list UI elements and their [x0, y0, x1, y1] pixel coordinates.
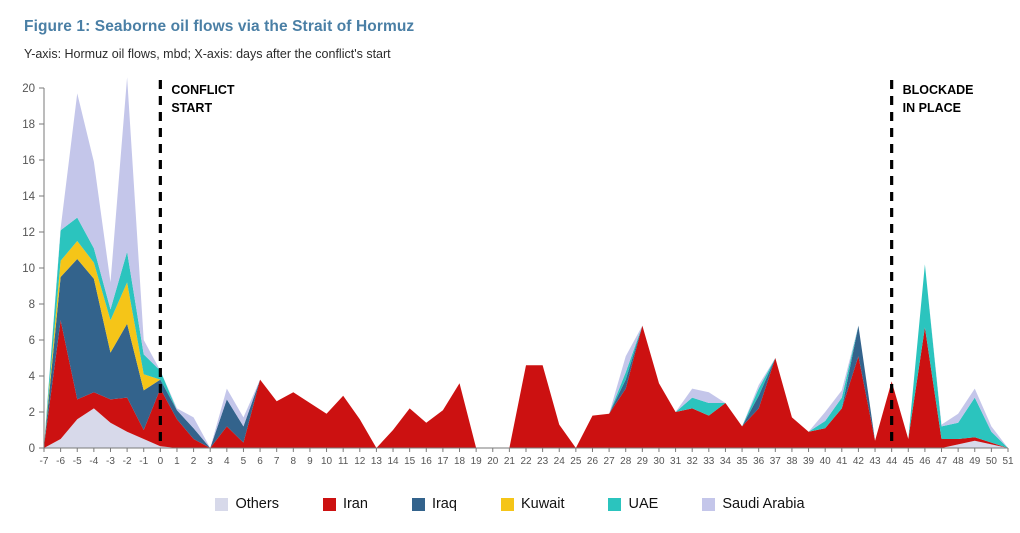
chart-series-group: [44, 77, 1008, 448]
legend-item-iran[interactable]: Iran: [323, 496, 368, 512]
x-tick-label: -7: [40, 456, 49, 467]
legend-label: Others: [235, 496, 279, 512]
x-tick-label: 28: [620, 456, 632, 467]
x-tick-label: 4: [224, 456, 230, 467]
blockade-in-place-label-line2: IN PLACE: [903, 101, 961, 115]
x-tick-label: 13: [371, 456, 383, 467]
conflict-start-label-line1: CONFLICT: [171, 83, 235, 97]
chart-plot-area: 02468101214161820-7-6-5-4-3-2-1012345678…: [0, 70, 1020, 470]
x-tick-label: 15: [404, 456, 416, 467]
x-tick-label: 6: [257, 456, 263, 467]
x-tick-label: 12: [354, 456, 366, 467]
x-tick-label: 40: [820, 456, 832, 467]
x-tick-label: 34: [720, 456, 732, 467]
x-tick-label: 24: [554, 456, 566, 467]
x-tick-label: 38: [786, 456, 798, 467]
x-tick-label: 10: [321, 456, 333, 467]
x-tick-label: 7: [274, 456, 280, 467]
stacked-area-chart: 02468101214161820-7-6-5-4-3-2-1012345678…: [0, 70, 1020, 470]
x-tick-label: 46: [919, 456, 931, 467]
x-tick-label: 43: [869, 456, 881, 467]
x-tick-label: 31: [670, 456, 682, 467]
x-tick-label: 37: [770, 456, 782, 467]
legend-swatch-icon: [501, 498, 514, 511]
x-tick-label: 26: [587, 456, 599, 467]
figure-container: Figure 1: Seaborne oil flows via the Str…: [0, 0, 1020, 533]
x-tick-label: -2: [123, 456, 132, 467]
x-tick-label: 3: [207, 456, 213, 467]
x-tick-label: 32: [687, 456, 699, 467]
y-tick-label: 18: [22, 119, 35, 131]
y-tick-label: 8: [29, 299, 35, 311]
x-tick-label: 1: [174, 456, 180, 467]
legend-swatch-icon: [608, 498, 621, 511]
x-tick-label: 50: [986, 456, 998, 467]
x-tick-label: 16: [421, 456, 433, 467]
x-tick-label: 49: [969, 456, 981, 467]
x-tick-label: 18: [454, 456, 466, 467]
y-tick-label: 6: [29, 335, 35, 347]
legend-swatch-icon: [215, 498, 228, 511]
legend-item-others[interactable]: Others: [215, 496, 279, 512]
legend-label: Saudi Arabia: [722, 496, 804, 512]
x-tick-label: 11: [338, 456, 349, 467]
x-tick-label: 17: [437, 456, 449, 467]
y-tick-label: 10: [22, 263, 35, 275]
y-tick-label: 14: [22, 191, 35, 203]
legend-item-uae[interactable]: UAE: [608, 496, 658, 512]
x-tick-label: 33: [703, 456, 715, 467]
legend-swatch-icon: [323, 498, 336, 511]
y-tick-label: 16: [22, 155, 35, 167]
x-tick-label: 42: [853, 456, 865, 467]
legend-label: Kuwait: [521, 496, 565, 512]
legend-label: UAE: [628, 496, 658, 512]
x-tick-label: 27: [604, 456, 616, 467]
conflict-start-label-line2: START: [171, 101, 212, 115]
x-tick-label: 45: [903, 456, 915, 467]
x-tick-label: 48: [953, 456, 965, 467]
x-tick-label: 22: [520, 456, 532, 467]
x-tick-label: 19: [471, 456, 483, 467]
x-tick-label: 20: [487, 456, 499, 467]
x-tick-label: 47: [936, 456, 948, 467]
x-tick-label: 35: [737, 456, 749, 467]
x-tick-label: 2: [191, 456, 197, 467]
x-tick-label: 14: [387, 456, 399, 467]
x-tick-label: -6: [56, 456, 65, 467]
x-tick-label: 29: [637, 456, 649, 467]
x-tick-label: 36: [753, 456, 765, 467]
x-tick-label: -3: [106, 456, 115, 467]
x-tick-label: 23: [537, 456, 549, 467]
y-tick-label: 4: [29, 371, 36, 383]
y-tick-label: 12: [22, 227, 35, 239]
x-tick-label: 39: [803, 456, 815, 467]
legend-item-iraq[interactable]: Iraq: [412, 496, 457, 512]
x-tick-label: 0: [158, 456, 164, 467]
y-tick-label: 2: [29, 407, 35, 419]
legend-item-saudi-arabia[interactable]: Saudi Arabia: [702, 496, 804, 512]
legend-swatch-icon: [702, 498, 715, 511]
x-tick-label: 44: [886, 456, 898, 467]
chart-legend: OthersIranIraqKuwaitUAESaudi Arabia: [0, 486, 1020, 522]
page-title: Figure 1: Seaborne oil flows via the Str…: [24, 18, 414, 36]
x-tick-label: 25: [570, 456, 582, 467]
blockade-in-place-label-line1: BLOCKADE: [903, 83, 974, 97]
legend-label: Iran: [343, 496, 368, 512]
figure-subtitle: Y-axis: Hormuz oil flows, mbd; X-axis: d…: [24, 47, 391, 61]
legend-item-kuwait[interactable]: Kuwait: [501, 496, 565, 512]
y-tick-label: 0: [29, 443, 35, 455]
x-tick-label: 51: [1002, 456, 1014, 467]
legend-swatch-icon: [412, 498, 425, 511]
x-tick-label: -4: [89, 456, 98, 467]
x-tick-label: 9: [307, 456, 313, 467]
x-tick-label: 30: [653, 456, 665, 467]
x-tick-label: -5: [73, 456, 82, 467]
legend-label: Iraq: [432, 496, 457, 512]
x-tick-label: 5: [241, 456, 247, 467]
x-tick-label: 41: [836, 456, 848, 467]
x-tick-label: 21: [504, 456, 516, 467]
x-tick-label: 8: [291, 456, 297, 467]
x-tick-label: -1: [139, 456, 148, 467]
y-tick-label: 20: [22, 83, 35, 95]
